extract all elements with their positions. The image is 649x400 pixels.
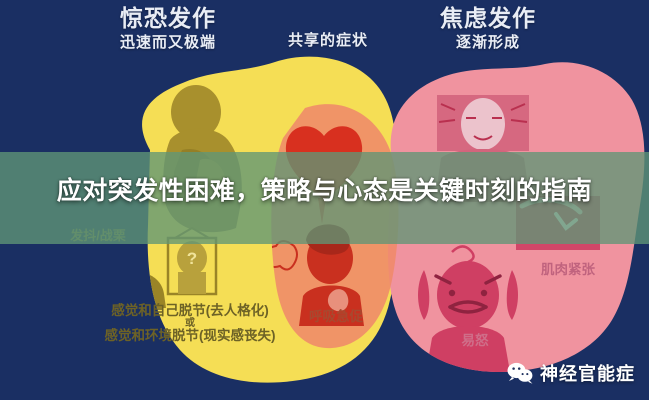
wechat-icon [507,362,533,384]
infographic-image: ? [0,0,649,400]
page-title: 应对突发性困难，策略与心态是关键时刻的指南 [0,175,649,208]
svg-text:?: ? [187,249,197,268]
header-anxiety-title: 焦虑发作 [378,6,598,32]
label-depersonalization-line2: 感觉和环境脱节(现实感丧失) [105,328,276,343]
label-muscle-tension: 肌肉紧张 [508,262,628,279]
watermark-text: 神经官能症 [540,360,635,386]
label-irritability: 易怒 [425,333,525,350]
label-shortness-of-breath: 呼吸急促 [281,309,391,326]
label-depersonalization-line1: 感觉和自己脱节(去人格化) [111,303,269,318]
header-panic-title: 惊恐发作 [58,6,278,32]
watermark: 神经官能症 [507,360,635,386]
header-anxiety-attack: 焦虑发作 逐渐形成 [378,6,598,52]
header-anxiety-subtitle: 逐渐形成 [378,35,598,52]
